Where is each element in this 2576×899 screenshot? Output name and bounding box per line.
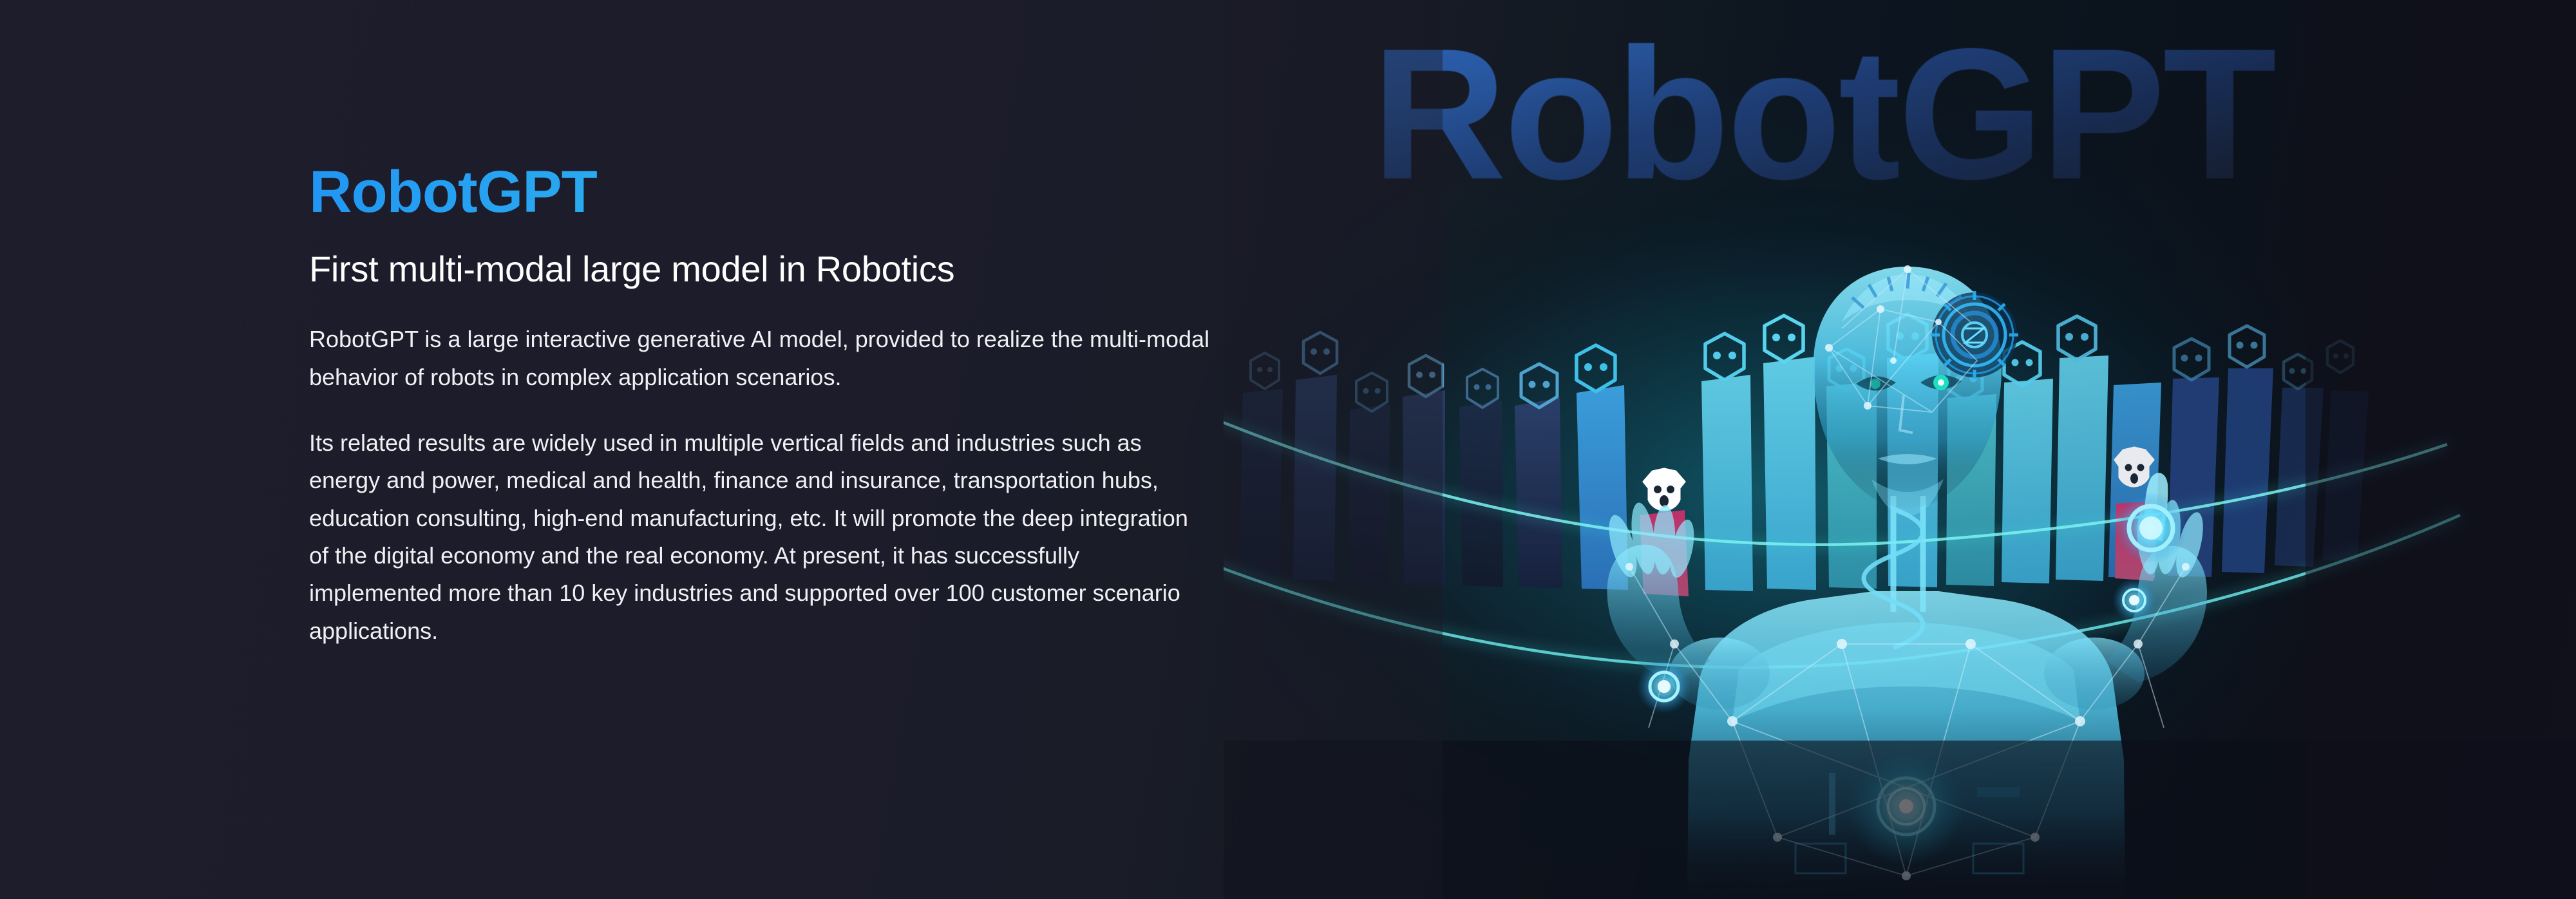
robot-illustration: RobotGPT: [1224, 0, 2576, 899]
left-edge-fade: [1224, 0, 1443, 899]
chart-bar: [1459, 401, 1503, 587]
right-edge-fade: [2306, 0, 2576, 899]
hero-paragraph-2: Its related results are widely used in m…: [309, 424, 1211, 650]
chart-bar: [2002, 379, 2053, 583]
chart-bar: [1515, 398, 1562, 589]
chart-bar: [2056, 355, 2108, 581]
chart-bar: [2222, 368, 2273, 573]
robot-scene-graphic: [1224, 0, 2576, 899]
touch-node-large: [2115, 492, 2187, 564]
page-title: RobotGPT: [309, 162, 1224, 222]
hero-text-column: RobotGPT First multi-modal large model i…: [309, 162, 1224, 650]
hero-paragraph-1: RobotGPT is a large interactive generati…: [309, 321, 1211, 396]
touch-node-small: [2112, 578, 2156, 622]
robotgpt-hero-banner: RobotGPT First multi-modal large model i…: [0, 0, 2576, 899]
touch-node-small: [1637, 659, 1691, 714]
hero-tagline: First multi-modal large model in Robotic…: [309, 249, 1224, 290]
chart-bar: [1701, 375, 1753, 591]
chart-bar: [1763, 357, 1816, 590]
